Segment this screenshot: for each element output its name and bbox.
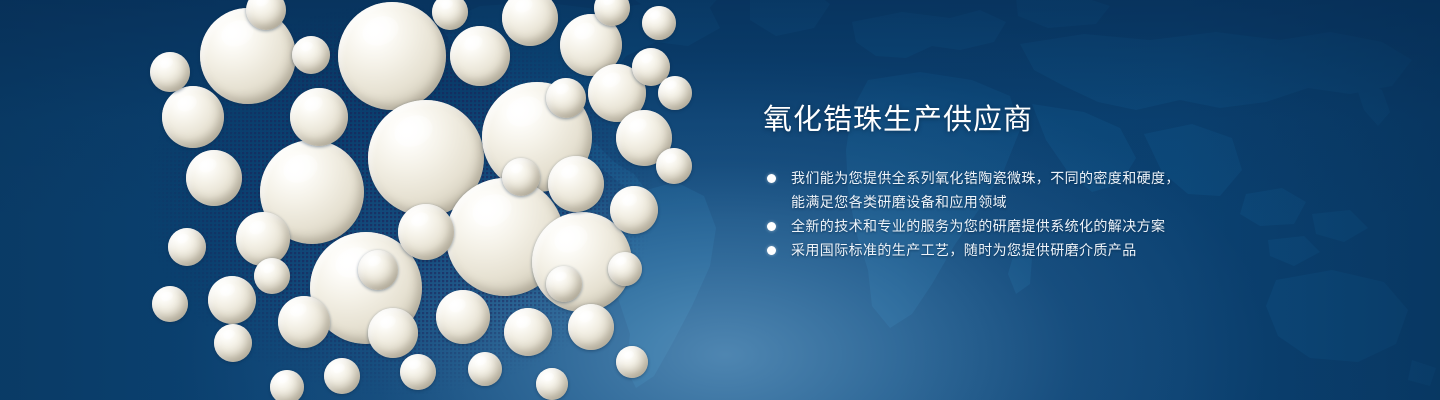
page-title: 氧化锆珠生产供应商: [763, 100, 1233, 140]
list-item: 我们能为您提供全系列氧化锆陶瓷微珠，不同的密度和硬度， 能满足您各类研磨设备和应…: [763, 166, 1233, 214]
feature-list: 我们能为您提供全系列氧化锆陶瓷微珠，不同的密度和硬度， 能满足您各类研磨设备和应…: [763, 166, 1233, 262]
list-item: 全新的技术和专业的服务为您的研磨提供系统化的解决方案: [763, 214, 1233, 238]
bullet-circle-icon: [767, 174, 776, 183]
list-item-line: 采用国际标准的生产工艺，随时为您提供研磨介质产品: [791, 238, 1233, 262]
list-item-line: 全新的技术和专业的服务为您的研磨提供系统化的解决方案: [791, 214, 1233, 238]
list-item-line: 我们能为您提供全系列氧化锆陶瓷微珠，不同的密度和硬度，: [791, 166, 1233, 190]
banner-text-block: 氧化锆珠生产供应商 我们能为您提供全系列氧化锆陶瓷微珠，不同的密度和硬度， 能满…: [763, 100, 1233, 262]
list-item-line: 能满足您各类研磨设备和应用领域: [791, 190, 1233, 214]
bullet-circle-icon: [767, 222, 776, 231]
hero-banner: 氧化锆珠生产供应商 我们能为您提供全系列氧化锆陶瓷微珠，不同的密度和硬度， 能满…: [0, 0, 1440, 400]
bullet-circle-icon: [767, 246, 776, 255]
list-item: 采用国际标准的生产工艺，随时为您提供研磨介质产品: [763, 238, 1233, 262]
zirconia-beads-image: [150, 0, 710, 400]
